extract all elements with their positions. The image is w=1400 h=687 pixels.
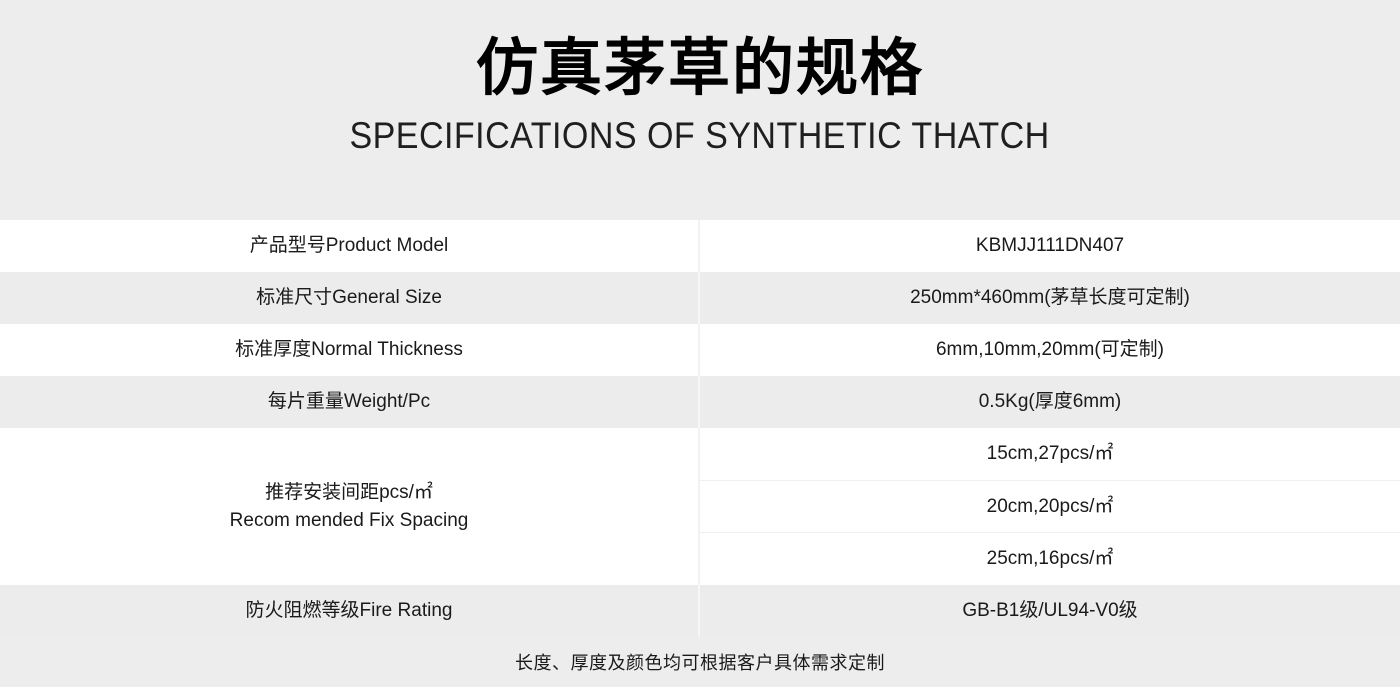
row-label-general-size: 标准尺寸General Size <box>0 272 700 324</box>
table-cell-label: 每片重量Weight/Pc <box>0 376 700 428</box>
table-cell-label: 防火阻燃等级Fire Rating <box>0 585 700 637</box>
table-row: 防火阻燃等级Fire Rating GB-B1级/UL94-V0级 <box>0 585 1400 637</box>
page-title-chinese: 仿真茅草的规格 <box>476 36 924 101</box>
page-title-english: SPECIFICATIONS OF SYNTHETIC THATCH <box>350 115 1050 157</box>
table-row: 标准尺寸General Size 250mm*460mm(茅草长度可定制) <box>0 272 1400 324</box>
fix-spacing-label-line1: 推荐安装间距pcs/㎡ <box>265 479 433 507</box>
table-cell-label: 产品型号Product Model <box>0 220 700 272</box>
table-body: 产品型号Product Model KBMJJ111DN407 标准尺寸Gene… <box>0 220 1400 637</box>
row-value-fire-rating: GB-B1级/UL94-V0级 <box>700 585 1400 637</box>
row-value-product-model: KBMJJ111DN407 <box>700 220 1400 272</box>
row-value-normal-thickness: 6mm,10mm,20mm(可定制) <box>700 324 1400 376</box>
fix-spacing-value-list: 15cm,27pcs/㎡ 20cm,20pcs/㎡ 25cm,16pcs/㎡ <box>700 428 1400 585</box>
list-item: 20cm,20pcs/㎡ <box>700 481 1400 534</box>
table-row: 产品型号Product Model KBMJJ111DN407 <box>0 220 1400 272</box>
table-cell-value: GB-B1级/UL94-V0级 <box>700 585 1400 637</box>
row-label-fix-spacing: 推荐安装间距pcs/㎡ Recom mended Fix Spacing <box>0 428 700 585</box>
table-cell-label: 标准厚度Normal Thickness <box>0 324 700 376</box>
table-cell-value: 15cm,27pcs/㎡ 20cm,20pcs/㎡ 25cm,16pcs/㎡ <box>700 428 1400 585</box>
footer-note: 长度、厚度及颜色均可根据客户具体需求定制 <box>0 637 1400 687</box>
table-row: 标准厚度Normal Thickness 6mm,10mm,20mm(可定制) <box>0 324 1400 376</box>
table-cell-label: 推荐安装间距pcs/㎡ Recom mended Fix Spacing <box>0 428 700 585</box>
row-label-fire-rating: 防火阻燃等级Fire Rating <box>0 585 700 637</box>
list-item: 15cm,27pcs/㎡ <box>700 428 1400 481</box>
table-row: 每片重量Weight/Pc 0.5Kg(厚度6mm) <box>0 376 1400 428</box>
row-value-weight-per-pc: 0.5Kg(厚度6mm) <box>700 376 1400 428</box>
row-label-product-model: 产品型号Product Model <box>0 220 700 272</box>
row-label-weight-per-pc: 每片重量Weight/Pc <box>0 376 700 428</box>
table-cell-value: 0.5Kg(厚度6mm) <box>700 376 1400 428</box>
table-cell-value: KBMJJ111DN407 <box>700 220 1400 272</box>
specification-page: 仿真茅草的规格 SPECIFICATIONS OF SYNTHETIC THAT… <box>0 0 1400 682</box>
row-value-general-size: 250mm*460mm(茅草长度可定制) <box>700 272 1400 324</box>
table-row-fix-spacing: 推荐安装间距pcs/㎡ Recom mended Fix Spacing 15c… <box>0 428 1400 585</box>
page-header: 仿真茅草的规格 SPECIFICATIONS OF SYNTHETIC THAT… <box>0 0 1400 220</box>
specifications-table: 产品型号Product Model KBMJJ111DN407 标准尺寸Gene… <box>0 220 1400 637</box>
row-label-normal-thickness: 标准厚度Normal Thickness <box>0 324 700 376</box>
table-cell-value: 250mm*460mm(茅草长度可定制) <box>700 272 1400 324</box>
list-item: 25cm,16pcs/㎡ <box>700 533 1400 585</box>
table-cell-value: 6mm,10mm,20mm(可定制) <box>700 324 1400 376</box>
fix-spacing-label-line2: Recom mended Fix Spacing <box>230 507 469 535</box>
table-cell-label: 标准尺寸General Size <box>0 272 700 324</box>
